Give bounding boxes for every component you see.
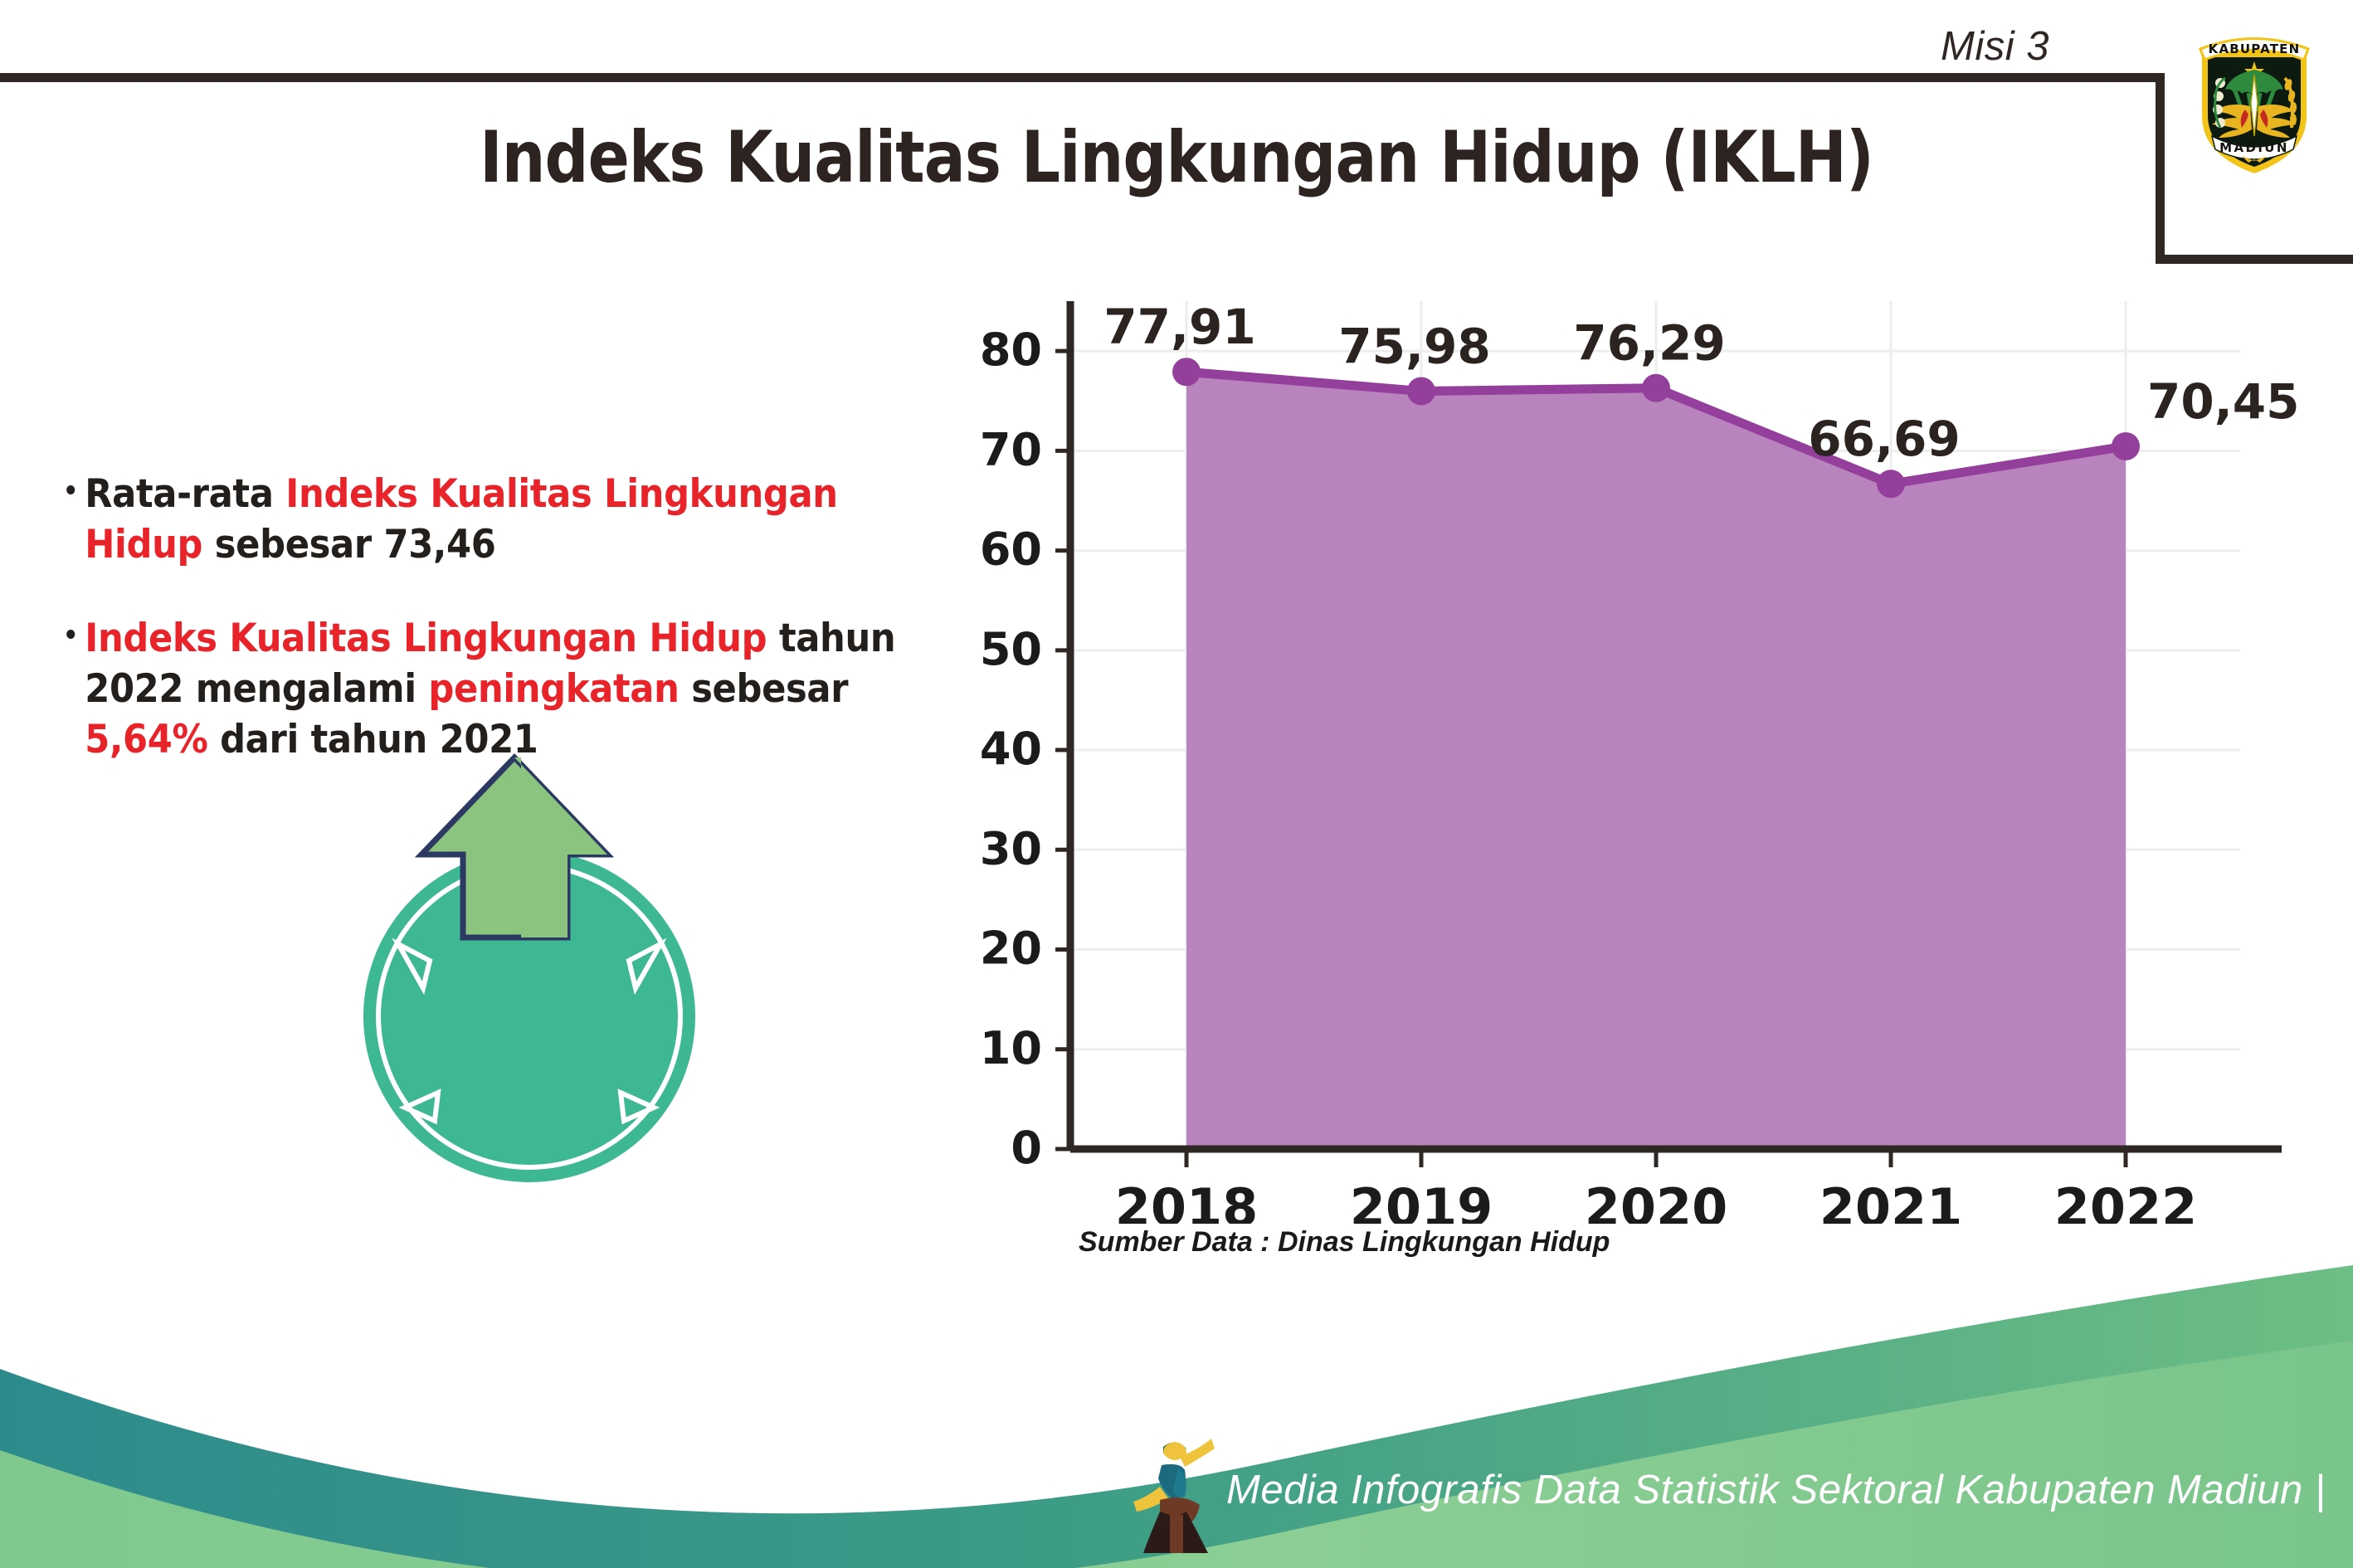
data-value-label: 70,45 [2147,373,2298,430]
iklh-area-chart: 01020304050607080 20182019202020212022 7… [971,286,2298,1224]
y-axis-tick-label: 10 [980,1022,1042,1074]
data-value-label: 77,91 [1103,299,1255,355]
page-title: Indeks Kualitas Lingkungan Hidup (IKLH) [165,116,2189,199]
kabupaten-madiun-emblem-icon: KABUPATEN MADIUN [2184,23,2325,177]
svg-text:KABUPATEN: KABUPATEN [2209,41,2301,56]
y-axis-tick-label: 50 [980,623,1042,675]
bullet-1-part-0: Indeks Kualitas Lingkungan Hidup [85,616,767,661]
list-item: Indeks Kualitas Lingkungan Hidup tahun 2… [68,613,915,765]
x-axis-tick-label: 2022 [2054,1177,2198,1224]
data-value-label: 76,29 [1573,315,1725,372]
x-axis-tick-label: 2018 [1115,1177,1259,1224]
y-axis-tick-label: 20 [980,923,1042,975]
x-axis-tick-label: 2021 [1820,1177,1963,1224]
y-axis-tick-label: 60 [980,523,1042,576]
header-rule [0,73,2159,82]
y-axis-tick-label: 0 [1011,1122,1042,1174]
list-item: Rata-rata Indeks Kualitas Lingkungan Hid… [68,469,915,570]
y-axis-tick-label: 80 [980,324,1042,376]
footer-text: Media Infografis Data Statistik Sektoral… [1226,1467,2326,1513]
y-axis-tick-label: 40 [980,723,1042,775]
growth-badge-graphic [322,751,737,1199]
bullet-0-part-2: sebesar 73,46 [202,522,495,567]
bullet-1-part-2: peningkatan [428,666,679,712]
header-bracket-horizontal [2156,255,2353,264]
y-axis-tick-labels: 01020304050607080 [980,324,1042,1174]
bullet-dot-icon [66,630,75,639]
y-axis-tick-label: 70 [980,423,1042,475]
bullet-1-part-4: 5,64% [85,717,207,762]
x-axis-tick-labels: 20182019202020212022 [1115,1177,2198,1224]
bullet-1-part-3: sebesar [680,666,849,712]
area-fill [1186,372,2126,1149]
data-value-label: 75,98 [1338,318,1490,374]
svg-text:MADIUN: MADIUN [2219,140,2289,155]
pencak-silat-figure-icon [1132,1429,1228,1561]
misi-label: Misi 3 [1941,23,2049,70]
bullet-list: Rata-rata Indeks Kualitas Lingkungan Hid… [68,469,989,765]
data-value-label: 66,69 [1808,411,1960,467]
bullet-dot-icon [66,485,75,494]
bullet-0-part-0: Rata-rata [85,471,285,517]
x-axis-tick-label: 2019 [1350,1177,1493,1224]
x-axis-tick-label: 2020 [1585,1177,1728,1224]
y-axis-tick-label: 30 [980,822,1042,874]
infographic-slide: Misi 3 KABUPATEN [0,0,2353,1568]
